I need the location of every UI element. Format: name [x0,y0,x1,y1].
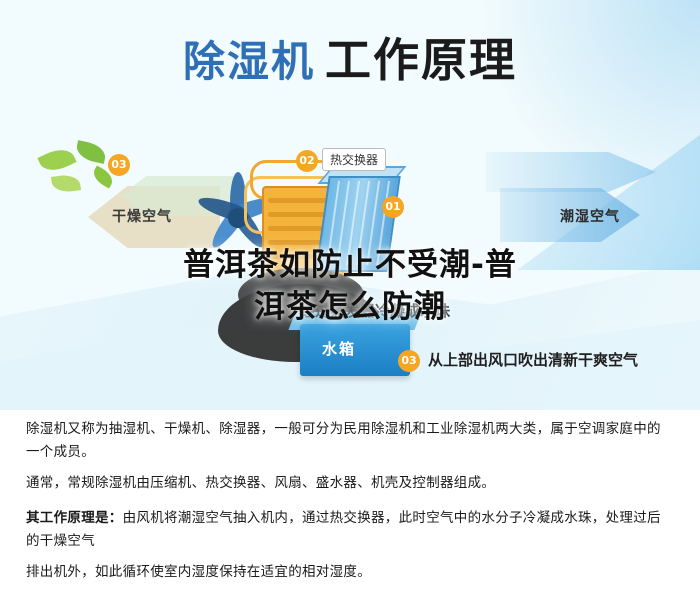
overlay-headline: 普洱茶如防止不受潮-普 洱茶怎么防潮 [0,244,700,328]
leaf-icon [37,144,76,176]
label-water-tank: 水箱 [322,338,356,359]
leaf-icon [74,140,107,164]
label-moist-air: 潮湿空气 [560,206,620,226]
title-primary: 除湿机 [183,37,315,86]
overlay-headline-line1: 普洱茶如防止不受潮-普 [0,244,700,286]
infographic-title: 除湿机工作原理 [0,24,700,90]
article-paragraph-4: 排出机外，如此循环使室内湿度保持在适宜的相对湿度。 [26,561,674,584]
badge-03-left: 03 [108,154,130,176]
article-paragraph-3: 其工作原理是：由风机将潮湿空气抽入机内，通过热交换器，此时空气中的水分子冷凝成水… [26,507,674,553]
article-paragraph-1: 除湿机又称为抽湿机、干燥机、除湿器，一般可分为民用除湿机和工业除湿机两大类，属于… [26,418,674,464]
overlay-headline-line2: 洱茶怎么防潮 [0,286,700,328]
article-paragraph-2: 通常，常规除湿机由压缩机、热交换器、风扇、盛水器、机壳及控制器组成。 [26,472,674,495]
callout-outlet: 从上部出风口吹出清新干爽空气 [428,349,638,370]
page-root: 除湿机工作原理 03 干燥空气 [0,0,700,566]
title-secondary: 工作原理 [325,33,517,87]
infographic-card: 除湿机工作原理 03 干燥空气 [0,0,700,410]
label-dry-air: 干燥空气 [112,206,172,226]
article-paragraph-3-label: 其工作原理是： [26,510,123,526]
label-heat-exchanger: 热交换器 [322,148,386,171]
badge-02: 02 [296,150,318,172]
badge-03-bottom: 03 [398,350,420,372]
badge-01: 01 [382,196,404,218]
leaf-icon [51,173,81,194]
